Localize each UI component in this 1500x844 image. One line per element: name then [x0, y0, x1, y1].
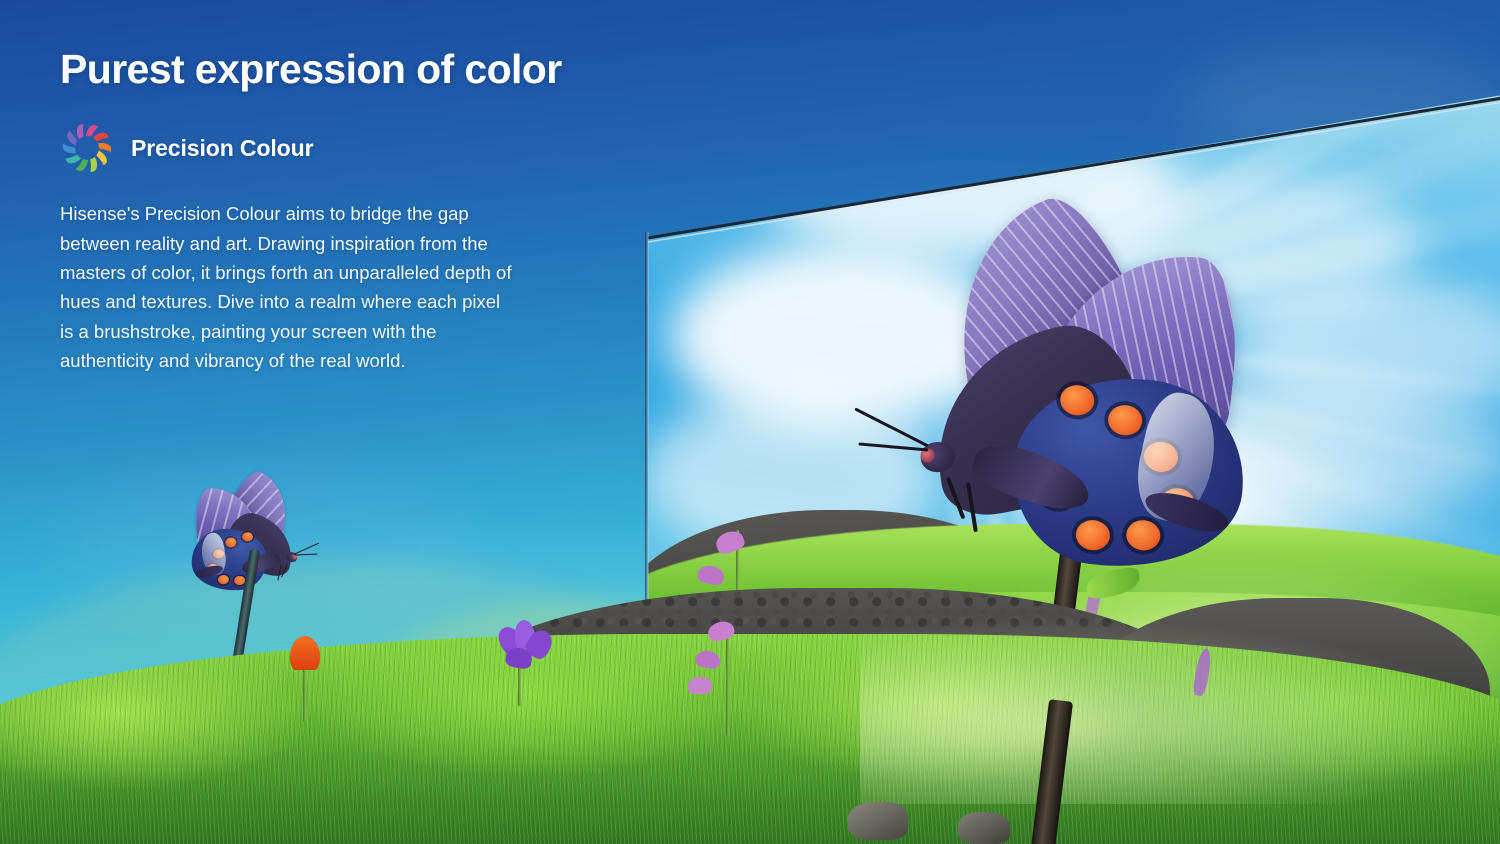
poppy-flower — [290, 636, 320, 670]
foreground-rock — [848, 802, 908, 840]
butterfly-wing-spot — [241, 531, 253, 542]
promo-banner: Purest expression of color Precision Col… — [0, 0, 1500, 844]
butterfly-wing-spot — [1059, 383, 1096, 417]
feature-name-label: Precision Colour — [131, 135, 313, 162]
foreground-ground — [0, 544, 1500, 844]
feature-badge-row: Precision Colour — [60, 121, 590, 175]
foreground-moss — [0, 634, 1500, 844]
body-paragraph: Hisense's Precision Colour aims to bridg… — [60, 199, 515, 375]
precision-colour-swirl-icon — [60, 121, 114, 175]
pink-flower-stem — [726, 624, 729, 736]
butterfly-wing-spot — [1106, 403, 1143, 437]
copy-block: Purest expression of color Precision Col… — [60, 48, 590, 375]
page-title: Purest expression of color — [60, 48, 590, 91]
foreground-rock — [958, 812, 1010, 844]
pink-flower — [687, 676, 712, 695]
